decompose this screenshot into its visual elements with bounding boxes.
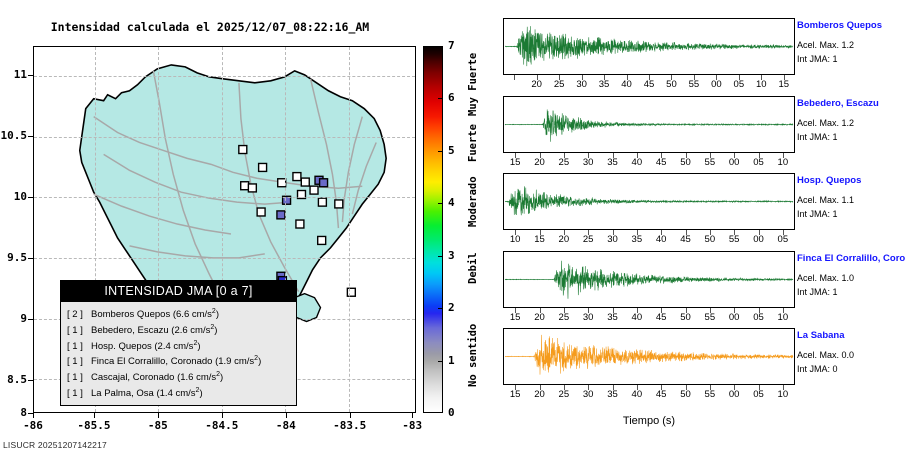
waveform-tick-label: 30 xyxy=(575,389,601,400)
waveform-axis-labels: 101520253035404550550005 xyxy=(503,234,795,248)
waveform-tick-label: 25 xyxy=(551,389,577,400)
legend-station-name: Cascajal, Coronado xyxy=(91,372,177,383)
map-y-tickmark xyxy=(28,136,33,137)
seismic-trace-line xyxy=(505,186,793,215)
map-y-tick-label: 10.5 xyxy=(0,129,27,142)
colorbar-tickmark xyxy=(438,98,443,99)
waveform-axis-labels: 152025303540455055000510 xyxy=(503,312,795,326)
waveform-row: 152025303540455055000510Finca El Corrali… xyxy=(490,251,910,328)
waveform-row: 152025303540455055000510Bebedero, Escazu… xyxy=(490,96,910,173)
footer-text: LISUCR 20251207142217 xyxy=(3,440,107,450)
waveform-tick-label: 10 xyxy=(502,234,528,245)
map-x-tickmark xyxy=(33,413,34,418)
waveform-tick-label: 15 xyxy=(502,389,528,400)
waveform-tick-label: 50 xyxy=(673,389,699,400)
map-x-tickmark xyxy=(286,413,287,418)
legend-title: INTENSIDAD JMA [0 a 7] xyxy=(61,281,296,302)
legend-row: [ 1 ]Bebedero, Escazu (2.6 cm/s2) xyxy=(67,322,296,338)
waveform-tick-label: 25 xyxy=(551,157,577,168)
legend-row: [ 1 ]Finca El Corralillo, Coronado (1.9 … xyxy=(67,353,296,369)
colorbar-category-label: Moderado xyxy=(467,176,479,227)
waveform-tick-label: 40 xyxy=(624,312,650,323)
waveform-max-acceleration: Acel. Max. 0.0 xyxy=(797,350,854,360)
map-panel: Intensidad calculada el 2025/12/07_08:22… xyxy=(0,0,490,460)
waveform-tick-label: 05 xyxy=(746,157,772,168)
legend-station-name: Bomberos Quepos xyxy=(91,309,173,320)
waveform-tick-label: 30 xyxy=(600,234,626,245)
map-y-tick-label: 9.5 xyxy=(0,251,27,264)
legend-station-value: (2.6 cm/s xyxy=(171,325,210,336)
waveform-tick-label: 35 xyxy=(624,234,650,245)
waveform-tick-label: 10 xyxy=(770,312,796,323)
waveform-tick-label: 00 xyxy=(746,234,772,245)
legend-intensity-index: [ 2 ] xyxy=(67,309,91,322)
map-x-tick-label: -84.5 xyxy=(199,419,245,432)
waveform-max-acceleration: Acel. Max. 1.0 xyxy=(797,273,854,283)
time-axis-label: Tiempo (s) xyxy=(503,415,795,427)
map-y-tick-label: 9 xyxy=(0,312,27,325)
waveform-plot[interactable] xyxy=(503,18,795,75)
waveform-plot[interactable] xyxy=(503,96,795,153)
waveform-max-acceleration: Acel. Max. 1.2 xyxy=(797,118,854,128)
legend-station-name: Finca El Corralillo, Coronado xyxy=(91,356,215,367)
map-title: Intensidad calculada el 2025/12/07_08:22… xyxy=(0,20,420,34)
legend-intensity-index: [ 1 ] xyxy=(67,356,91,369)
waveform-tick-label: 40 xyxy=(624,389,650,400)
map-station-marker[interactable] xyxy=(239,146,247,154)
waveform-tick-label: 15 xyxy=(527,234,553,245)
map-y-tick-label: 8 xyxy=(0,406,27,419)
colorbar-tickmark xyxy=(438,256,443,257)
waveform-jma-intensity: Int JMA: 0 xyxy=(797,364,838,374)
waveform-tick-label: 10 xyxy=(770,157,796,168)
map-y-tickmark xyxy=(28,258,33,259)
map-y-tick-label: 11 xyxy=(0,68,27,81)
waveform-tick-label: 55 xyxy=(721,234,747,245)
waveform-tick-label: 15 xyxy=(771,79,797,90)
legend-station-value: (1.6 cm/s xyxy=(177,372,216,383)
map-x-tickmark xyxy=(158,413,159,418)
legend-station-name: Bebedero, Escazu xyxy=(91,325,171,336)
legend-station-value: (2.4 cm/s xyxy=(154,341,193,352)
waveform-axis-labels: 152025303540455055000510 xyxy=(503,389,795,403)
legend-close-paren: ) xyxy=(214,325,217,336)
legend-intensity-index: [ 1 ] xyxy=(67,388,91,401)
map-station-marker[interactable] xyxy=(293,173,301,181)
waveform-panel: 202530354045505500051015Bomberos QueposA… xyxy=(490,0,910,460)
waveform-tick-label: 45 xyxy=(648,389,674,400)
map-x-tickmark xyxy=(222,413,223,418)
legend-close-paren: ) xyxy=(216,309,219,320)
legend-station-name: Hosp. Quepos xyxy=(91,341,154,352)
waveform-plot[interactable] xyxy=(503,328,795,385)
legend-station-name: La Palma, Osa xyxy=(91,388,156,399)
waveform-tick-label: 15 xyxy=(502,157,528,168)
map-station-marker[interactable] xyxy=(310,186,318,194)
waveform-jma-intensity: Int JMA: 1 xyxy=(797,209,838,219)
waveform-tick-label: 10 xyxy=(770,389,796,400)
waveform-jma-intensity: Int JMA: 1 xyxy=(797,287,838,297)
colorbar-category-label: Muy Fuerte xyxy=(467,52,479,115)
waveform-axis-labels: 202530354045505500051015 xyxy=(503,79,795,93)
map-x-tick-label: -86 xyxy=(10,419,56,432)
waveform-tick-label: 25 xyxy=(575,234,601,245)
colorbar-category-label: Debil xyxy=(467,252,479,284)
colorbar-tickmark xyxy=(438,151,443,152)
waveform-tick-label: 35 xyxy=(600,157,626,168)
seismic-trace-line xyxy=(505,260,793,298)
waveform-jma-intensity: Int JMA: 1 xyxy=(797,132,838,142)
waveform-tick-label: 20 xyxy=(527,389,553,400)
waveform-tick-label: 50 xyxy=(697,234,723,245)
waveform-tick-label: 55 xyxy=(697,157,723,168)
map-x-tickmark xyxy=(412,413,413,418)
colorbar-tick-label: 7 xyxy=(448,39,455,52)
waveform-jma-intensity: Int JMA: 1 xyxy=(797,54,838,64)
waveform-max-acceleration: Acel. Max. 1.2 xyxy=(797,40,854,50)
colorbar-category-label: No sentido xyxy=(467,324,479,387)
waveform-tick-label: 50 xyxy=(673,157,699,168)
waveform-tick-label: 05 xyxy=(746,389,772,400)
waveform-tick-label: 15 xyxy=(502,312,528,323)
waveform-max-acceleration: Acel. Max. 1.1 xyxy=(797,195,854,205)
colorbar-tick-label: 1 xyxy=(448,354,455,367)
colorbar-tickmark xyxy=(438,361,443,362)
waveform-tick-label: 45 xyxy=(673,234,699,245)
legend-close-paren: ) xyxy=(199,388,202,399)
map-x-tickmark xyxy=(350,413,351,418)
waveform-tick-label: 45 xyxy=(648,157,674,168)
colorbar-tick-label: 4 xyxy=(448,196,455,209)
legend-intensity-index: [ 1 ] xyxy=(67,372,91,385)
waveform-station-name: La Sabana xyxy=(797,330,910,341)
map-station-marker[interactable] xyxy=(320,179,328,187)
legend-close-paren: ) xyxy=(197,341,200,352)
colorbar-tick-label: 5 xyxy=(448,144,455,157)
map-station-marker[interactable] xyxy=(241,182,249,190)
map-x-tick-label: -83 xyxy=(389,419,435,432)
waveform-row: 152025303540455055000510La SabanaAcel. M… xyxy=(490,328,910,405)
colorbar-tick-label: 0 xyxy=(448,406,455,419)
waveform-tick-label: 40 xyxy=(648,234,674,245)
colorbar-category-label: Fuerte xyxy=(467,124,479,162)
colorbar-tickmark xyxy=(438,308,443,309)
map-y-tick-label: 8.5 xyxy=(0,373,27,386)
waveform-tick-label: 30 xyxy=(575,157,601,168)
waveform-station-name: Bomberos Quepos xyxy=(797,20,910,31)
map-x-tick-label: -83.5 xyxy=(327,419,373,432)
map-station-marker[interactable] xyxy=(318,236,326,244)
legend-row: [ 1 ]La Palma, Osa (1.4 cm/s2) xyxy=(67,385,296,401)
waveform-tick-label: 00 xyxy=(721,389,747,400)
map-y-tickmark xyxy=(28,197,33,198)
map-x-tick-label: -84 xyxy=(263,419,309,432)
colorbar-tick-label: 2 xyxy=(448,301,455,314)
waveform-tick-label: 20 xyxy=(527,157,553,168)
waveform-tick-label: 05 xyxy=(746,312,772,323)
waveform-tick-label: 05 xyxy=(770,234,796,245)
intensity-colorbar xyxy=(423,46,443,413)
map-station-marker[interactable] xyxy=(296,220,304,228)
legend-intensity-index: [ 1 ] xyxy=(67,341,91,354)
legend-intensity-index: [ 1 ] xyxy=(67,325,91,338)
waveform-station-name: Finca El Corralillo, Coro xyxy=(797,253,910,264)
map-station-marker[interactable] xyxy=(257,208,265,216)
colorbar-tick-label: 6 xyxy=(448,91,455,104)
legend-station-value: (6.6 cm/s xyxy=(173,309,212,320)
waveform-tick-label: 45 xyxy=(648,312,674,323)
waveform-station-name: Bebedero, Escazu xyxy=(797,98,910,109)
legend-row: [ 2 ]Bomberos Quepos (6.6 cm/s2) xyxy=(67,306,296,322)
intensity-legend: INTENSIDAD JMA [0 a 7] [ 2 ]Bomberos Que… xyxy=(60,280,297,406)
waveform-tick-label: 25 xyxy=(551,312,577,323)
legend-row: [ 1 ]Hosp. Quepos (2.4 cm/s2) xyxy=(67,338,296,354)
waveform-tick-label: 00 xyxy=(721,312,747,323)
waveform-row: 101520253035404550550005Hosp. QueposAcel… xyxy=(490,173,910,250)
waveform-station-name: Hosp. Quepos xyxy=(797,175,910,186)
legend-close-paren: ) xyxy=(258,356,261,367)
waveform-tick-label: 35 xyxy=(600,389,626,400)
waveform-tick-label: 50 xyxy=(673,312,699,323)
legend-station-list: [ 2 ]Bomberos Quepos (6.6 cm/s2)[ 1 ]Beb… xyxy=(61,302,296,405)
legend-close-paren: ) xyxy=(220,372,223,383)
waveform-tick-label: 20 xyxy=(527,312,553,323)
waveform-plot[interactable] xyxy=(503,173,795,230)
map-station-marker[interactable] xyxy=(248,184,256,192)
map-y-tickmark xyxy=(28,75,33,76)
map-station-marker[interactable] xyxy=(335,200,343,208)
waveform-tick-label: 55 xyxy=(697,389,723,400)
colorbar-tickmark xyxy=(438,203,443,204)
seismic-trace-line xyxy=(505,109,793,141)
waveform-tick-label: 40 xyxy=(624,157,650,168)
colorbar-tick-label: 3 xyxy=(448,249,455,262)
map-y-tick-label: 10 xyxy=(0,190,27,203)
waveform-row: 202530354045505500051015Bomberos QueposA… xyxy=(490,18,910,95)
map-station-marker[interactable] xyxy=(259,163,267,171)
map-station-marker[interactable] xyxy=(318,198,326,206)
waveform-tick-label: 35 xyxy=(600,312,626,323)
map-station-marker[interactable] xyxy=(301,178,309,186)
legend-station-value: (1.4 cm/s xyxy=(156,388,195,399)
waveform-tick-label: 55 xyxy=(697,312,723,323)
waveform-tick-label: 20 xyxy=(551,234,577,245)
map-x-tick-label: -85.5 xyxy=(71,419,117,432)
legend-row: [ 1 ]Cascajal, Coronado (1.6 cm/s2) xyxy=(67,369,296,385)
map-x-tick-label: -85 xyxy=(135,419,181,432)
map-y-tickmark xyxy=(28,380,33,381)
map-station-marker[interactable] xyxy=(277,211,285,219)
seismic-trace-line xyxy=(505,26,793,66)
seismic-trace-line xyxy=(505,335,793,375)
map-y-tickmark xyxy=(28,319,33,320)
waveform-plot[interactable] xyxy=(503,251,795,308)
legend-station-value: (1.9 cm/s xyxy=(215,356,254,367)
map-x-tickmark xyxy=(94,413,95,418)
waveform-axis-labels: 152025303540455055000510 xyxy=(503,157,795,171)
waveform-tick-label: 00 xyxy=(721,157,747,168)
waveform-tick-label: 30 xyxy=(575,312,601,323)
